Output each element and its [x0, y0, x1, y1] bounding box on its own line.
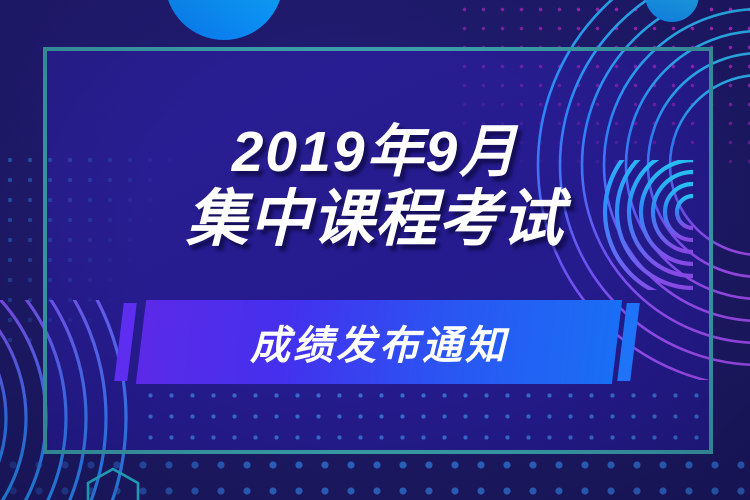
page-title: 2019年9月 集中课程考试: [0, 124, 750, 251]
banner-accent-bar-left: [114, 303, 137, 381]
exam-result-notice-poster: 2019年9月 集中课程考试 成绩发布通知: [0, 0, 750, 500]
banner-label: 成绩发布通知: [141, 300, 617, 384]
banner-accent-bar-right: [617, 303, 640, 381]
headline-line-2: 集中课程考试: [0, 189, 750, 251]
subtitle-banner: 成绩发布通知: [0, 300, 750, 384]
headline-line-1: 2019年9月: [0, 124, 750, 181]
hexagon-outline-icon: [84, 466, 142, 500]
